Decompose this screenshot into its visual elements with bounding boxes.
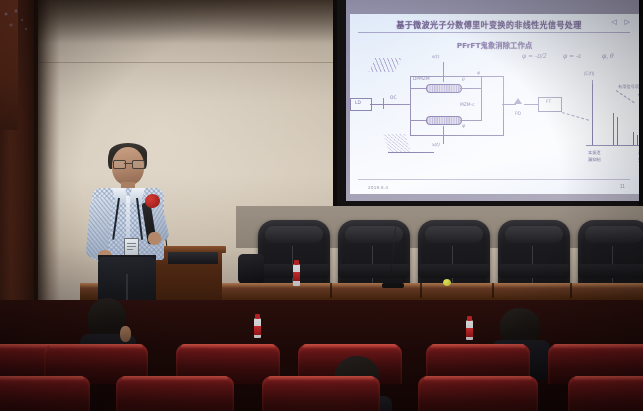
seat-highlight — [0, 376, 84, 381]
glasses-lens-left — [113, 160, 126, 169]
diagram-wire-feedback — [388, 152, 434, 153]
panel-chair-arm — [338, 264, 410, 278]
diagram-wire-ld-oc — [370, 104, 384, 105]
diagram-modulator-mzm-a — [426, 84, 462, 93]
diagram-label-ld: LD — [355, 101, 361, 106]
audience-seat — [116, 376, 234, 411]
audience-foreground — [0, 300, 643, 411]
panel-chair-arm — [418, 264, 490, 278]
spectrum-line-signal-2 — [617, 117, 618, 145]
slide-equation-3: φ, θ — [602, 53, 614, 60]
diagram-wire-recomb-lower — [460, 120, 482, 121]
diagram-label-dpmzm: DPMZM — [413, 77, 430, 82]
audience-seat — [568, 376, 643, 411]
audience-seat — [418, 376, 538, 411]
presentation-slide: 基于微波光子分数傅里叶变换的非线性光信号处理 ◁ ▷ PFrFT鬼象消除工作点 … — [350, 14, 639, 194]
panel-chair-arm — [498, 264, 570, 278]
seat-highlight — [303, 344, 397, 349]
spectrum-annotation-lo-1: 本振泄 — [588, 150, 601, 156]
diagram-modulator-mzm-b — [426, 116, 462, 125]
seat-highlight — [431, 344, 525, 349]
speaker-hand-right — [148, 232, 161, 245]
diagram-wire-split-upper — [410, 88, 426, 89]
badge-text-line — [127, 246, 136, 247]
spectrum-x-axis — [586, 145, 639, 146]
panel-chair — [338, 220, 410, 290]
diagram-wire-split-vertical — [410, 88, 411, 120]
slide-corner-marks: ◁ ▷ — [611, 18, 633, 26]
bottle-label — [254, 326, 261, 335]
diagram-wire-recomb-upper — [460, 88, 482, 89]
panel-chair — [578, 220, 643, 290]
spectrum-line-residual-1 — [633, 132, 634, 145]
spectrum-line-signal-1 — [613, 113, 614, 145]
diagram-rf-drive-lower — [443, 126, 444, 144]
diagram-block-ld — [350, 98, 372, 111]
audience-seat — [0, 376, 90, 411]
badge-text-line — [127, 243, 136, 244]
speaker-figure — [74, 142, 186, 322]
seat-highlight — [574, 376, 643, 381]
seat-highlight — [181, 344, 275, 349]
slide-page-number: 11 — [620, 184, 625, 190]
panel-chair-arm — [578, 264, 643, 278]
water-bottle — [254, 318, 261, 338]
slide-subtitle: PFrFT鬼象消除工作点 — [350, 40, 639, 51]
diagram-hatched-input — [369, 58, 402, 72]
diagram-label-mzm-c-phase: φ — [477, 71, 480, 76]
diagram-wire-oc-dpmzm — [384, 104, 410, 105]
diagram-signal-label-st: s(t) — [432, 55, 439, 60]
bottle-cap — [467, 316, 472, 321]
bottle-label — [293, 272, 300, 281]
bag-on-table — [238, 254, 264, 284]
bottle-cap — [255, 314, 260, 319]
audience-head — [500, 308, 540, 344]
water-bottle — [466, 320, 473, 340]
conference-presentation-photo: 基于微波光子分数傅里叶变换的非线性光信号处理 ◁ ▷ PFrFT鬼象消除工作点 … — [0, 0, 643, 411]
spectrum-callout-line-harmonic — [638, 94, 639, 105]
bottle-label — [466, 328, 473, 337]
diagram-wire-pd-ft — [524, 104, 538, 105]
bottle-cap — [294, 260, 299, 265]
audience-hand — [120, 326, 131, 342]
green-object-on-table — [443, 279, 451, 286]
diagram-wire-split-lower — [410, 120, 426, 121]
spectrum-annotation-signal: 有用信号项 — [618, 84, 639, 90]
panel-table-seam — [492, 283, 494, 298]
seat-highlight — [49, 344, 143, 349]
diagram-label-ft: FT — [546, 100, 551, 105]
panel-table-seam — [570, 283, 572, 298]
wall-seam-line — [36, 62, 336, 63]
diagram-label-mzm-c: MZM-c — [460, 103, 475, 108]
spectrum-callout-line-signal — [616, 90, 635, 103]
diagram-block-pd — [514, 98, 522, 104]
seat-highlight — [424, 376, 532, 381]
panel-microphone-base — [382, 283, 404, 288]
spectrum-line-carrier — [592, 84, 593, 145]
spectrum-line-residual-2 — [637, 135, 638, 145]
diagram-wire-mzm-c-stub — [481, 77, 482, 89]
diagram-label-oc: OC — [390, 96, 397, 101]
panel-table-seam — [420, 283, 422, 298]
slide-equation-2: φ = -ε — [563, 53, 581, 60]
diagram-signal-label-xt: x(t) — [432, 143, 440, 148]
panel-chair — [418, 220, 490, 290]
slide-title-underline — [358, 32, 630, 33]
spectrum-y-axis-label: |C(f)| — [584, 71, 595, 76]
seat-highlight — [268, 376, 374, 381]
glasses-bridge — [124, 163, 132, 164]
audience-seat — [262, 376, 380, 411]
slide-footer-text: 2019.6.4 — [368, 185, 388, 190]
seat-highlight — [122, 376, 228, 381]
diagram-label-mzm-b-phase: φ — [462, 124, 465, 129]
slide-title: 基于微波光子分数傅里叶变换的非线性光信号处理 — [369, 19, 609, 31]
diagram-arrow-to-spectrum — [562, 112, 589, 121]
spectrum-annotation-harm-2: 交调干扰 — [638, 157, 639, 163]
diagram-wire-recomb-vertical — [481, 88, 482, 120]
spectrum-annotation-lo-2: 漏抑制 — [588, 157, 601, 163]
spectrum-annotation-harm-1: 高阶边带/ — [638, 150, 639, 156]
slide-equation-1: φ = -π/2 — [522, 53, 547, 60]
seat-highlight — [553, 344, 643, 349]
diagram-label-pd: PD — [515, 112, 521, 117]
panel-chair — [498, 220, 570, 290]
glasses-lens-right — [132, 160, 145, 169]
slide-footer-rule — [358, 179, 630, 180]
diagram-hatched-feedback — [383, 134, 411, 152]
diagram-rf-drive-upper — [443, 62, 444, 82]
panel-table-seam — [330, 283, 332, 298]
badge-text-line — [127, 249, 133, 250]
diagram-label-mzm-a-phase: θ — [462, 78, 465, 83]
speaker-glasses — [113, 160, 143, 167]
water-bottle — [293, 264, 300, 286]
wood-column-specular-flecks — [2, 8, 30, 34]
